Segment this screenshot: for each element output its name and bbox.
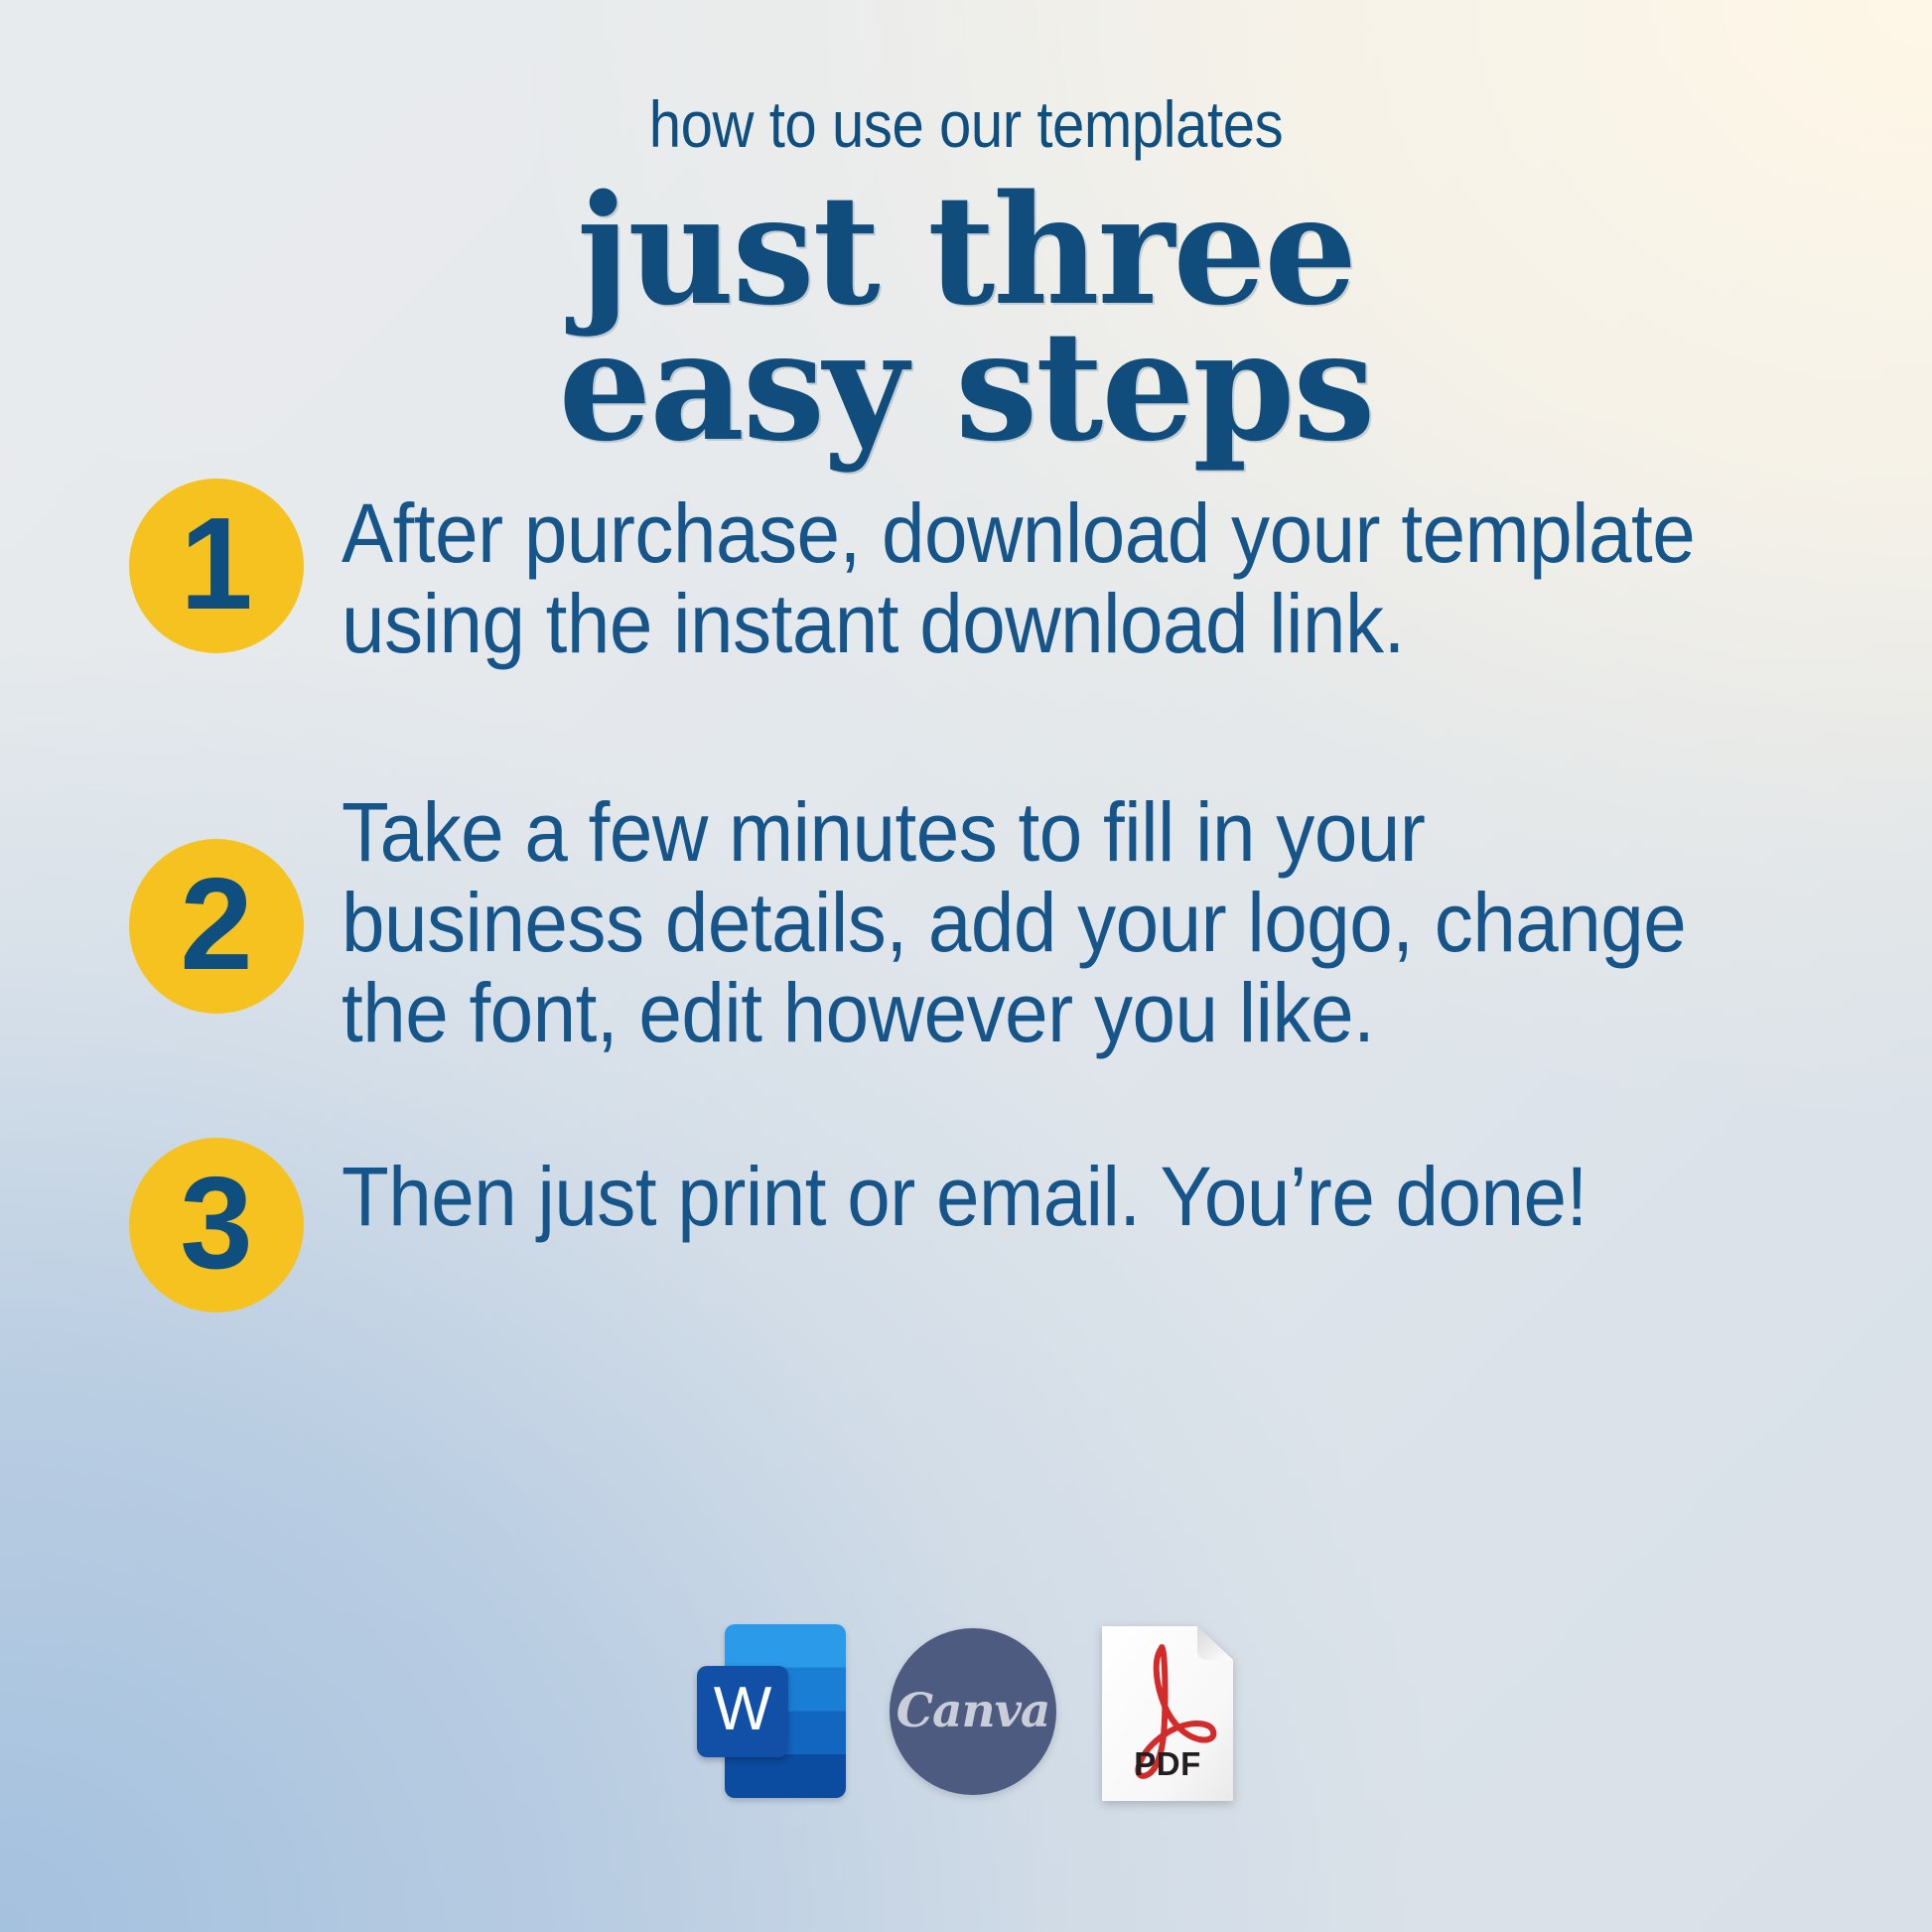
step-item-1: 1 After purchase, download your template… — [129, 481, 1843, 668]
poster-canvas: how to use our templates just three easy… — [0, 0, 1932, 1932]
step-description-2: Take a few minutes to fill in your busin… — [342, 779, 1737, 1057]
canva-icon: Canva — [890, 1628, 1056, 1795]
pdf-icon: PDF — [1100, 1624, 1235, 1803]
steps-list: 1 After purchase, download your template… — [129, 467, 1843, 1312]
microsoft-word-icon: W — [697, 1624, 846, 1798]
step-item-3: 3 Then just print or email. You’re done! — [129, 1144, 1843, 1312]
page-title: just three easy steps — [29, 183, 1903, 455]
pdf-label-text: PDF — [1100, 1745, 1235, 1783]
step-number-1: 1 — [180, 498, 252, 629]
step-description-3: Then just print or email. You’re done! — [342, 1144, 1587, 1242]
canva-wordmark: Canva — [897, 1684, 1050, 1738]
page-title-line-2: easy steps — [29, 319, 1903, 455]
step-number-2: 2 — [180, 859, 252, 990]
step-item-2: 2 Take a few minutes to fill in your bus… — [129, 779, 1843, 1057]
step-description-1: After purchase, download your template u… — [342, 481, 1737, 668]
step-badge-3: 3 — [129, 1138, 304, 1312]
word-tile-shape: W — [697, 1666, 788, 1757]
step-number-3: 3 — [180, 1158, 252, 1289]
eyebrow-text: how to use our templates — [116, 91, 1816, 157]
step-badge-2: 2 — [129, 839, 304, 1014]
word-letter-glyph: W — [714, 1679, 772, 1740]
header: how to use our templates just three easy… — [0, 91, 1932, 455]
format-logos: W Canva — [0, 1624, 1932, 1803]
step-badge-1: 1 — [129, 479, 304, 653]
